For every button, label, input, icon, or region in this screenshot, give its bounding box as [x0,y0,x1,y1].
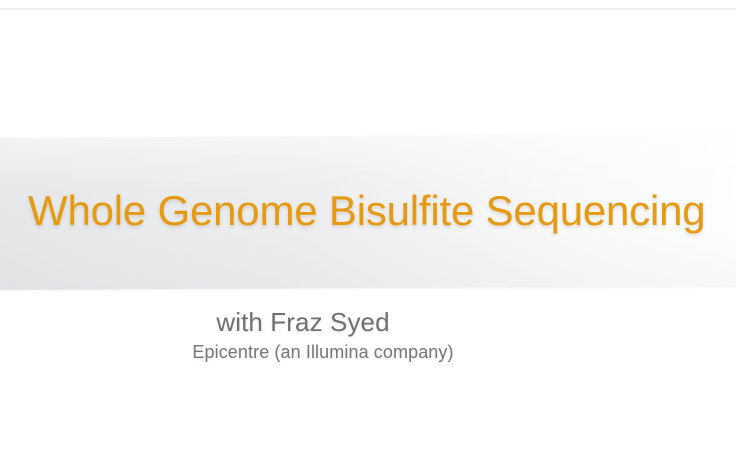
presenter-name: with Fraz Syed [0,306,736,338]
lower-white-field [0,380,736,475]
title-slide: Whole Genome Bisulfite Sequencing with F… [0,0,736,475]
presenter-affiliation: Epicentre (an Illumina company) [0,340,736,364]
page-title: Whole Genome Bisulfite Sequencing [28,185,734,237]
upper-white-field [0,10,736,140]
byline: with Fraz Syed Epicentre (an Illumina co… [0,306,736,364]
